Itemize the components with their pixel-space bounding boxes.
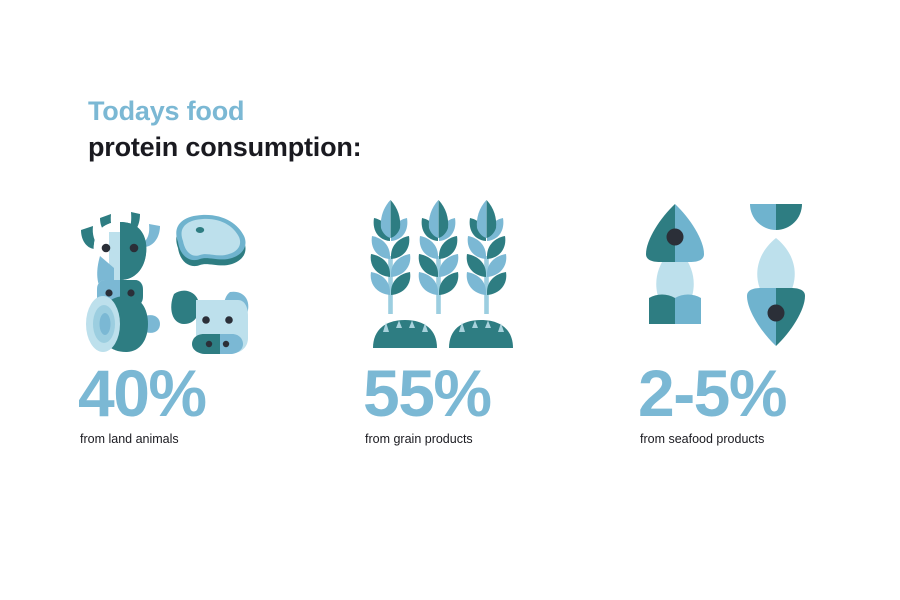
stat-column-seafood-products: 2-5% from seafood products bbox=[638, 196, 900, 356]
stat-percent-grain-products: 55% bbox=[363, 360, 491, 426]
land-animals-icons bbox=[78, 196, 268, 356]
land-animals-illustration bbox=[78, 196, 268, 356]
stat-percent-land-animals: 40% bbox=[78, 360, 206, 426]
wheat-stalk-icon bbox=[419, 200, 459, 314]
stats-columns: 40% from land animals bbox=[0, 196, 900, 456]
ham-icon bbox=[86, 296, 160, 352]
bread-loaf-icon bbox=[449, 320, 513, 348]
pig-eye-right-icon bbox=[225, 316, 233, 324]
fish-down-icon bbox=[747, 204, 805, 346]
pig-nostril-right-icon bbox=[223, 341, 229, 347]
cow-nostril-left-icon bbox=[105, 289, 112, 296]
page-title: Todays food protein consumption: bbox=[88, 98, 361, 161]
stat-percent-seafood-products: 2-5% bbox=[638, 360, 786, 426]
pig-head-icon bbox=[171, 291, 248, 354]
stat-column-land-animals: 40% from land animals bbox=[78, 196, 358, 356]
cow-eye-right-icon bbox=[130, 244, 139, 253]
pig-eye-left-icon bbox=[202, 316, 210, 324]
seafood-products-illustration bbox=[638, 196, 828, 356]
steak-marbling-dot-icon bbox=[196, 227, 204, 233]
fish-eye-icon bbox=[667, 229, 684, 246]
grain-products-illustration bbox=[363, 196, 553, 356]
wheat-stalk-icon bbox=[371, 200, 411, 314]
infographic-canvas: Todays food protein consumption: bbox=[0, 0, 900, 600]
bread-loaf-icon bbox=[373, 320, 437, 348]
cow-nostril-right-icon bbox=[127, 289, 134, 296]
stat-column-grain-products: 55% from grain products bbox=[363, 196, 643, 356]
pig-nostril-left-icon bbox=[206, 341, 212, 347]
cow-eye-left-icon bbox=[102, 244, 111, 253]
stat-caption-land-animals: from land animals bbox=[80, 432, 179, 446]
stat-caption-seafood-products: from seafood products bbox=[640, 432, 764, 446]
stat-caption-grain-products: from grain products bbox=[365, 432, 473, 446]
cow-head-icon bbox=[81, 212, 160, 306]
title-line-secondary: protein consumption: bbox=[88, 134, 361, 161]
wheat-stalk-icon bbox=[467, 200, 507, 314]
title-line-primary: Todays food bbox=[88, 98, 361, 125]
seafood-products-icons bbox=[638, 196, 828, 356]
grain-products-icons bbox=[363, 196, 553, 356]
steak-icon bbox=[176, 215, 245, 266]
fish-eye-icon bbox=[768, 305, 785, 322]
fish-up-icon bbox=[646, 204, 704, 324]
